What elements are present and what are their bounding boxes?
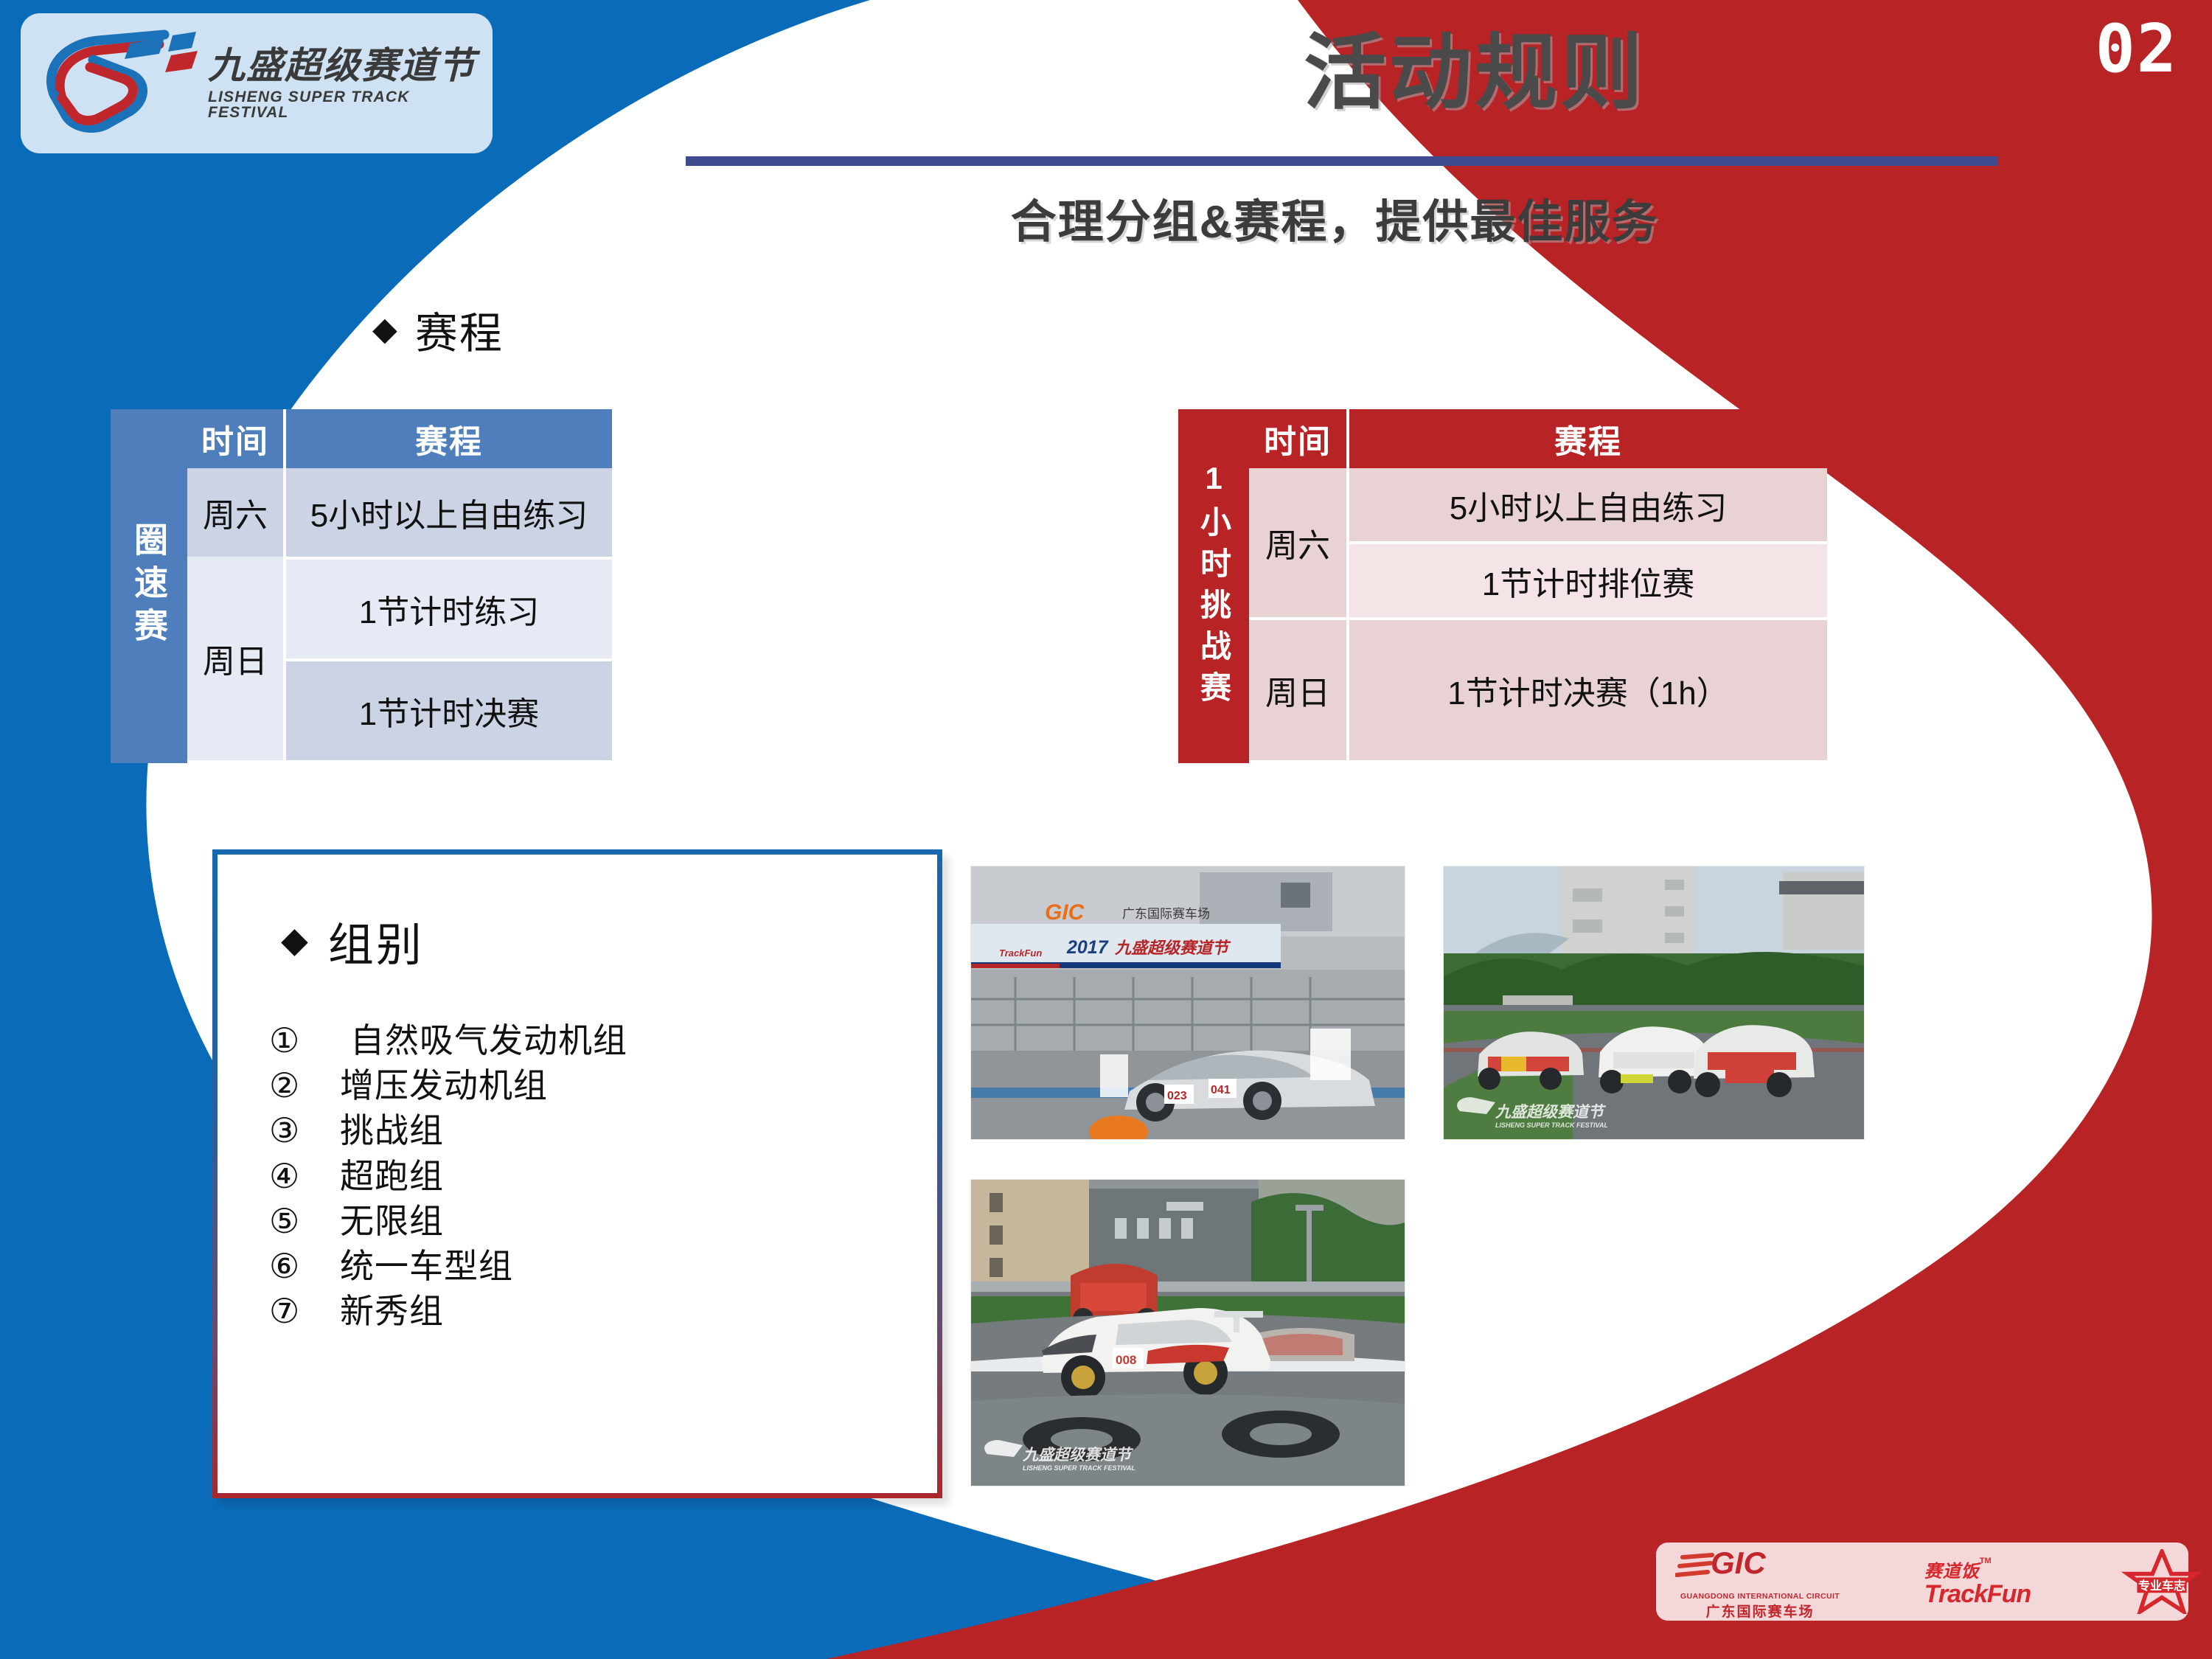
list-item-number: ⑦ [269,1289,340,1334]
table-cell-event: 1节计时排位赛 [1349,544,1827,620]
schedule-section-heading: ◆ 赛程 [372,299,504,361]
brand-logo-panel: 九盛超级赛道节 LISHENG SUPER TRACK FESTIVAL [21,13,493,153]
table-row-time: 周六 [1249,468,1346,617]
list-item: ④ 超跑组 [269,1154,627,1199]
list-item-label: 统一车型组 [340,1244,513,1289]
column-header-schedule: 赛程 [286,409,612,468]
svg-text:2017: 2017 [1066,937,1109,958]
list-item-number: ⑥ [269,1244,340,1289]
svg-text:008: 008 [1116,1353,1136,1367]
gic-cn-label: 广东国际赛车场 [1675,1601,1845,1621]
groups-heading: ◆ 组别 [281,908,424,974]
list-item-number: ③ [269,1108,340,1153]
list-item: ⑤ 无限组 [269,1199,627,1244]
lisheng-track-logo-icon [35,24,205,142]
diamond-bullet-icon: ◆ [281,923,310,959]
table-row-time: 周六 [187,468,283,557]
svg-text:GIC: GIC [1045,900,1085,925]
list-item-number: ⑤ [269,1199,340,1244]
svg-text:041: 041 [1211,1084,1231,1096]
list-item-label: 增压发动机组 [340,1063,548,1108]
trackfun-logo: 赛道饭 TM TrackFun [1889,1557,2066,1606]
star-logo-label: 专业车志 [2138,1579,2185,1593]
list-item-label: 超跑组 [340,1154,444,1199]
column-header-time: 时间 [1249,409,1349,468]
table-cell-event: 1节计时决赛 [286,661,612,760]
table-side-label: 圈速赛 [111,409,187,763]
table-cell-event: 1节计时决赛（1h） [1349,620,1827,760]
svg-text:九盛超级赛道节: 九盛超级赛道节 [1495,1103,1607,1121]
list-item: ③ 挑战组 [269,1108,627,1153]
svg-text:GIC: GIC [1711,1545,1766,1580]
table-row-time: 周日 [187,557,283,760]
page-title: 活动规则 [1209,6,1740,125]
groups-list: ① 自然吸气发动机组 ② 增压发动机组 ③ 挑战组 ④ 超跑组 ⑤ 无限组 ⑥ … [269,1018,627,1334]
list-item-label: 新秀组 [340,1289,444,1334]
title-divider [686,156,1998,166]
table-cell-event: 5小时以上自由练习 [286,468,612,560]
trademark-mark: TM [1980,1557,1992,1565]
column-header-schedule: 赛程 [1349,409,1827,468]
table-cell-event: 5小时以上自由练习 [1349,468,1827,544]
diamond-bullet-icon: ◆ [372,313,399,346]
svg-text:广东国际赛车场: 广东国际赛车场 [1122,906,1210,921]
list-item: ⑦ 新秀组 [269,1289,627,1334]
list-item-number: ④ [269,1154,340,1199]
svg-text:九盛超级赛道节: 九盛超级赛道节 [1114,939,1231,957]
svg-text:TrackFun: TrackFun [999,947,1042,959]
svg-text:九盛超级赛道节: 九盛超级赛道节 [1022,1446,1134,1464]
gic-flame-icon: GIC [1675,1543,1845,1588]
svg-text:023: 023 [1167,1090,1187,1102]
groups-panel: ◆ 组别 ① 自然吸气发动机组 ② 增压发动机组 ③ 挑战组 ④ 超跑组 ⑤ 无… [212,849,942,1498]
logo-en-text: LISHENG SUPER TRACK FESTIVAL [208,89,493,120]
zhuanyechezhi-logo: 专业车志 [2118,1549,2206,1614]
list-item-number: ② [269,1063,340,1108]
lap-race-schedule-table: 圈速赛 时间 赛程 周六 周日 5小时以上自由练习 1节计时练习 1节计时决赛 [111,409,612,763]
list-item: ② 增压发动机组 [269,1063,627,1108]
gic-logo: GIC GUANGDONG INTERNATIONAL CIRCUIT 广东国际… [1675,1543,1845,1621]
svg-text:LISHENG SUPER TRACK FESTIVAL: LISHENG SUPER TRACK FESTIVAL [1023,1464,1135,1472]
race-photo-white-sedan: 008 九盛超级赛道节 LISHENG SUPER TRACK FESTIVAL [971,1180,1405,1486]
groups-heading-label: 组别 [328,908,424,974]
trackfun-en-label: TrackFun [1924,1582,2031,1606]
page-subtitle: 合理分组&赛程，提供最佳服务 [841,184,1829,251]
table-row-time: 周日 [1249,617,1346,760]
trackfun-cn-label: 赛道饭 [1924,1557,1980,1582]
list-item: ⑥ 统一车型组 [269,1244,627,1289]
footer-partner-bar: GIC GUANGDONG INTERNATIONAL CIRCUIT 广东国际… [1656,1543,2188,1621]
column-header-time: 时间 [187,409,286,468]
gic-en-label: GUANGDONG INTERNATIONAL CIRCUIT [1675,1592,1845,1601]
list-item-label: 挑战组 [340,1108,444,1153]
list-item: ① 自然吸气发动机组 [269,1018,627,1063]
logo-cn-text: 九盛超级赛道节 [208,47,493,84]
list-item-label: 自然吸气发动机组 [340,1018,627,1063]
list-item-number: ① [269,1018,340,1063]
table-cell-event: 1节计时练习 [286,560,612,661]
svg-text:LISHENG SUPER TRACK FESTIVAL: LISHENG SUPER TRACK FESTIVAL [1495,1121,1608,1129]
one-hour-challenge-schedule-table: 1小时挑战赛 时间 赛程 周六 周日 5小时以上自由练习 1节计时排位赛 1节计… [1178,409,1827,763]
page-number: 02 [2096,10,2178,88]
race-photo-silver-bmw: 2017 九盛超级赛道节 GIC 广东国际赛车场 TrackFun 023 04… [971,866,1405,1139]
table-side-label: 1小时挑战赛 [1178,409,1249,763]
schedule-heading-label: 赛程 [415,299,504,361]
star-icon: 专业车志 [2118,1549,2206,1614]
race-photo-three-hatchbacks: 九盛超级赛道节 LISHENG SUPER TRACK FESTIVAL [1444,866,1864,1139]
list-item-label: 无限组 [340,1199,444,1244]
